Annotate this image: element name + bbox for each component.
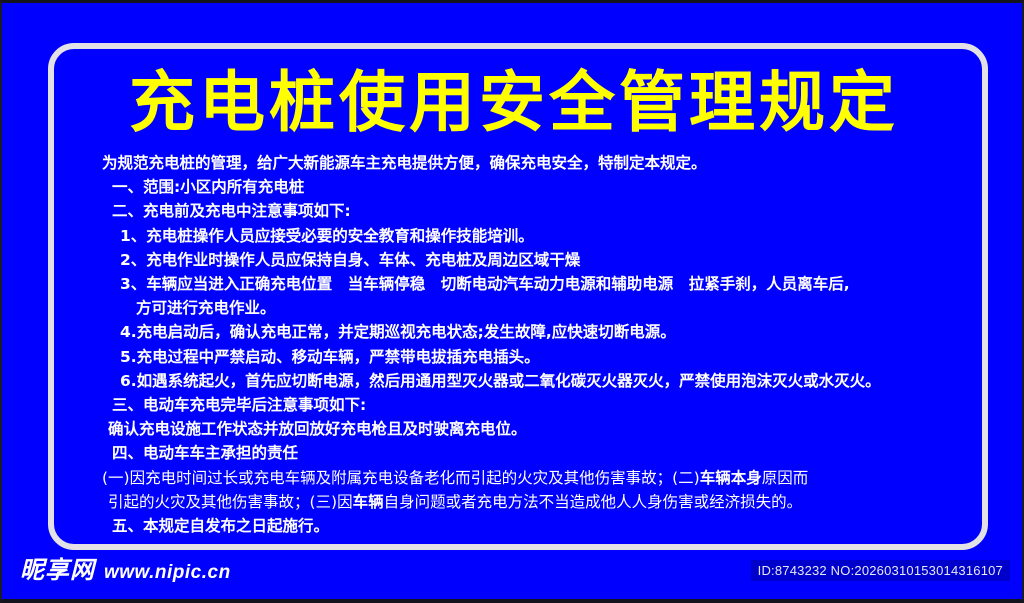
liability-line-1: (一)因充电时间过长或充电车辆及附属充电设备老化而引起的火灾及其他伤害事故；(二… (90, 466, 950, 490)
intro-paragraph: 为规范充电桩的管理，给广大新能源车主充电提供方便，确保充电安全，特制定本规定。 (90, 151, 950, 175)
liability-1-emph: 车辆本身 (700, 469, 762, 487)
regulation-body: 为规范充电桩的管理，给广大新能源车主充电提供方便，确保充电安全，特制定本规定。 … (90, 151, 950, 538)
regulation-line-list: 一、范围:小区内所有充电桩二、充电前及充电中注意事项如下:1、充电桩操作人员应接… (90, 175, 950, 465)
item-5: 5.充电过程中严禁启动、移动车辆，严禁带电拔插充电插头。 (90, 345, 950, 369)
sec-4: 四、电动车车主承担的责任 (90, 441, 950, 465)
site-watermark: 昵享网 www.nipic.cn (20, 550, 231, 585)
poster-canvas: 充电桩使用安全管理规定 为规范充电桩的管理，给广大新能源车主充电提供方便，确保充… (0, 0, 1024, 603)
item-2: 2、充电作业时操作人员应保持自身、车体、充电桩及周边区域干燥 (90, 248, 950, 272)
liability-2-text-c: 自身问题或者充电方法不当造成他人人身伤害或经济损失的。 (384, 493, 803, 511)
asset-id-badge: ID:8743232 NO:20260310153014316107 (751, 560, 1010, 581)
section-5: 五、本规定自发布之日起施行。 (90, 514, 950, 538)
item-3b: 方可进行充电作业。 (90, 296, 950, 320)
watermark-url: www.nipic.cn (104, 562, 231, 584)
item-1: 1、充电桩操作人员应接受必要的安全教育和操作技能培训。 (90, 224, 950, 248)
sec-2: 二、充电前及充电中注意事项如下: (90, 199, 950, 223)
item-6: 6.如遇系统起火，首先应切断电源，然后用通用型灭火器或二氧化碳灭火器灭火，严禁使… (90, 369, 950, 393)
liability-1-text-c: 原因而 (762, 469, 809, 487)
liability-2-text-a: 引起的火灾及其他伤害事故；(三)因 (108, 493, 353, 511)
liability-1-text-a: (一)因充电时间过长或充电车辆及附属充电设备老化而引起的火灾及其他伤害事故；(二… (102, 469, 700, 487)
liability-2-emph: 车辆 (353, 493, 384, 511)
sec-3b: 确认充电设施工作状态并放回放好充电枪且及时驶离充电位。 (90, 417, 950, 441)
sec-3: 三、电动车充电完毕后注意事项如下: (90, 393, 950, 417)
liability-line-2: 引起的火灾及其他伤害事故；(三)因车辆自身问题或者充电方法不当造成他人人身伤害或… (90, 490, 950, 514)
item-3: 3、车辆应当进入正确充电位置 当车辆停稳 切断电动汽车动力电源和辅助电源 拉紧手… (90, 272, 950, 296)
page-title: 充电桩使用安全管理规定 (2, 69, 1024, 136)
sec-1: 一、范围:小区内所有充电桩 (90, 175, 950, 199)
item-4: 4.充电启动后，确认充电正常，并定期巡视充电状态;发生故障,应快速切断电源。 (90, 320, 950, 344)
watermark-logo-text: 昵享网 (20, 550, 95, 585)
